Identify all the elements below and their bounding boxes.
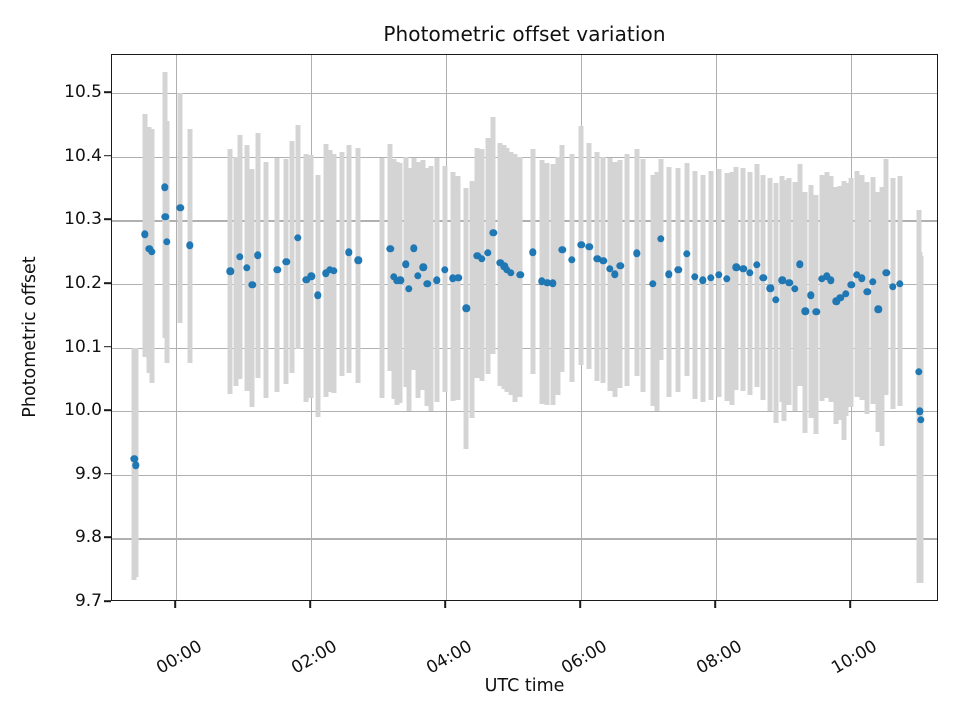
data-point xyxy=(869,278,876,285)
data-point xyxy=(236,253,243,260)
data-point xyxy=(294,234,301,241)
data-point xyxy=(463,304,470,311)
data-point xyxy=(330,267,337,274)
x-axis-tick-label: 06:00 xyxy=(558,637,610,679)
data-point xyxy=(723,275,730,282)
y-axis-tick-mark xyxy=(104,219,111,221)
data-point xyxy=(707,274,714,281)
data-point xyxy=(161,184,168,191)
data-point xyxy=(568,256,575,263)
data-point xyxy=(917,416,924,423)
data-point xyxy=(507,269,514,276)
data-point xyxy=(226,268,233,275)
data-point xyxy=(657,235,664,242)
data-point xyxy=(517,271,524,278)
data-point xyxy=(162,213,169,220)
y-axis-tick-mark xyxy=(104,282,111,284)
y-axis-tick-label: 9.9 xyxy=(75,464,102,484)
y-axis-tick-mark xyxy=(104,346,111,348)
marker-layer xyxy=(112,55,937,600)
data-point xyxy=(148,248,155,255)
data-point xyxy=(633,250,640,257)
data-point xyxy=(802,308,809,315)
x-axis-tick-mark xyxy=(714,601,716,608)
data-point xyxy=(812,308,819,315)
data-point xyxy=(683,250,690,257)
x-axis-tick-label: 02:00 xyxy=(288,637,340,679)
x-axis-tick-mark xyxy=(309,601,311,608)
data-point xyxy=(410,245,417,252)
data-point xyxy=(441,266,448,273)
y-axis-tick-mark xyxy=(104,600,111,602)
x-axis-tick-mark xyxy=(444,601,446,608)
x-axis-tick-label: 04:00 xyxy=(423,637,475,679)
data-point xyxy=(796,261,803,268)
data-point xyxy=(549,280,556,287)
data-point xyxy=(760,274,767,281)
data-point xyxy=(274,266,281,273)
data-point xyxy=(141,231,148,238)
y-axis-tick-mark xyxy=(104,91,111,93)
data-point xyxy=(875,306,882,313)
data-point xyxy=(254,252,261,259)
data-point xyxy=(243,264,250,271)
y-axis-tick-label: 10.4 xyxy=(64,146,102,166)
data-point xyxy=(186,241,193,248)
data-point xyxy=(916,407,923,414)
figure-canvas: Photometric offset variation 10.510.410.… xyxy=(0,0,960,720)
data-point xyxy=(772,296,779,303)
y-axis-tick-mark xyxy=(104,409,111,411)
x-axis-tick-label: 10:00 xyxy=(828,637,880,679)
data-point xyxy=(807,292,814,299)
data-point xyxy=(386,245,393,252)
y-axis-tick-label: 10.0 xyxy=(64,400,102,420)
data-point xyxy=(420,264,427,271)
data-point xyxy=(617,262,624,269)
data-point xyxy=(848,281,855,288)
x-axis-tick-mark xyxy=(579,601,581,608)
data-point xyxy=(699,276,706,283)
y-axis-tick-label: 10.1 xyxy=(64,337,102,357)
data-point xyxy=(163,238,170,245)
data-point xyxy=(397,276,404,283)
data-point xyxy=(176,204,183,211)
x-axis-tick-mark xyxy=(849,601,851,608)
data-point xyxy=(433,276,440,283)
y-axis-tick-mark xyxy=(104,537,111,539)
y-axis-tick-mark xyxy=(104,155,111,157)
data-point xyxy=(414,272,421,279)
data-point xyxy=(896,280,903,287)
data-point xyxy=(529,248,536,255)
data-point xyxy=(559,246,566,253)
plot-area xyxy=(111,54,938,601)
data-point xyxy=(675,266,682,273)
y-axis-tick-label: 9.8 xyxy=(75,527,102,547)
data-point xyxy=(665,271,672,278)
data-point xyxy=(307,273,314,280)
y-axis-label: Photometric offset xyxy=(20,207,40,467)
y-axis-tick-mark xyxy=(104,473,111,475)
x-axis-tick-label: 08:00 xyxy=(693,637,745,679)
data-point xyxy=(864,288,871,295)
data-point xyxy=(249,281,256,288)
data-point xyxy=(649,280,656,287)
data-point xyxy=(402,261,409,268)
x-axis-tick-mark xyxy=(174,601,176,608)
data-point xyxy=(883,269,890,276)
data-point xyxy=(282,258,289,265)
data-point xyxy=(746,269,753,276)
chart-title: Photometric offset variation xyxy=(111,22,938,46)
data-point xyxy=(424,280,431,287)
data-point xyxy=(490,229,497,236)
data-point xyxy=(455,274,462,281)
data-point xyxy=(314,292,321,299)
x-axis-label: UTC time xyxy=(111,676,938,696)
y-axis-tick-label: 9.7 xyxy=(75,591,102,611)
data-point xyxy=(753,261,760,268)
data-point xyxy=(600,257,607,264)
data-point xyxy=(484,249,491,256)
data-point xyxy=(791,285,798,292)
data-point xyxy=(355,257,362,264)
data-point xyxy=(405,285,412,292)
data-point xyxy=(827,276,834,283)
data-point xyxy=(691,273,698,280)
data-point xyxy=(577,241,584,248)
data-point xyxy=(715,271,722,278)
y-axis-tick-label: 10.5 xyxy=(64,82,102,102)
data-point xyxy=(767,285,774,292)
data-point xyxy=(611,271,618,278)
y-axis-tick-label: 10.2 xyxy=(64,273,102,293)
data-point xyxy=(345,248,352,255)
data-point xyxy=(586,243,593,250)
data-point xyxy=(132,462,139,469)
y-axis-tick-label: 10.3 xyxy=(64,209,102,229)
data-point xyxy=(842,290,849,297)
x-axis-tick-label: 00:00 xyxy=(153,637,205,679)
data-point xyxy=(858,275,865,282)
data-point xyxy=(478,255,485,262)
data-point xyxy=(915,368,922,375)
